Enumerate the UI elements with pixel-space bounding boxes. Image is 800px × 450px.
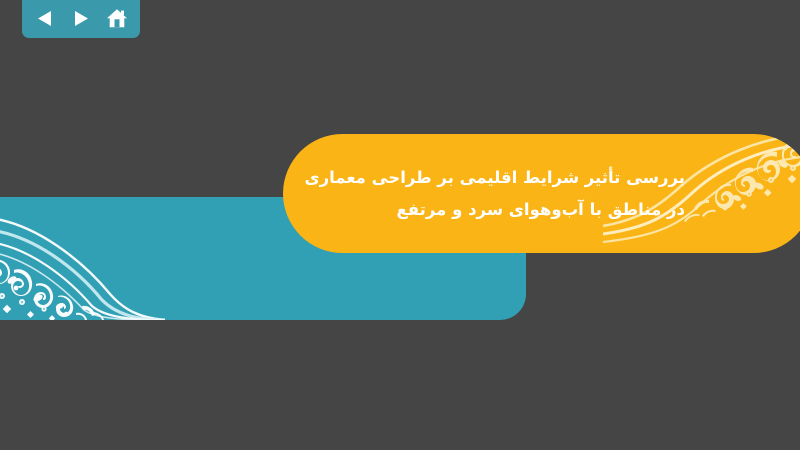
- previous-arrow-icon: [37, 10, 53, 27]
- navigation-bar: [22, 0, 140, 38]
- title-banner: بررسی تأثیر شرایط اقلیمی بر طراحی معماری…: [283, 134, 800, 253]
- slide-canvas: بررسی تأثیر شرایط اقلیمی بر طراحی معماری…: [0, 0, 800, 450]
- previous-slide-button[interactable]: [34, 6, 56, 30]
- arabesque-ornament-teal: [0, 208, 165, 320]
- next-arrow-icon: [73, 10, 89, 27]
- slide-title-line-1: بررسی تأثیر شرایط اقلیمی بر طراحی معماری: [355, 161, 685, 193]
- next-slide-button[interactable]: [70, 6, 92, 30]
- slide-title: بررسی تأثیر شرایط اقلیمی بر طراحی معماری…: [355, 161, 685, 225]
- home-button[interactable]: [106, 6, 128, 30]
- home-icon: [106, 8, 128, 29]
- slide-title-line-2: در مناطق با آب‌وهوای سرد و مرتفع: [355, 194, 685, 226]
